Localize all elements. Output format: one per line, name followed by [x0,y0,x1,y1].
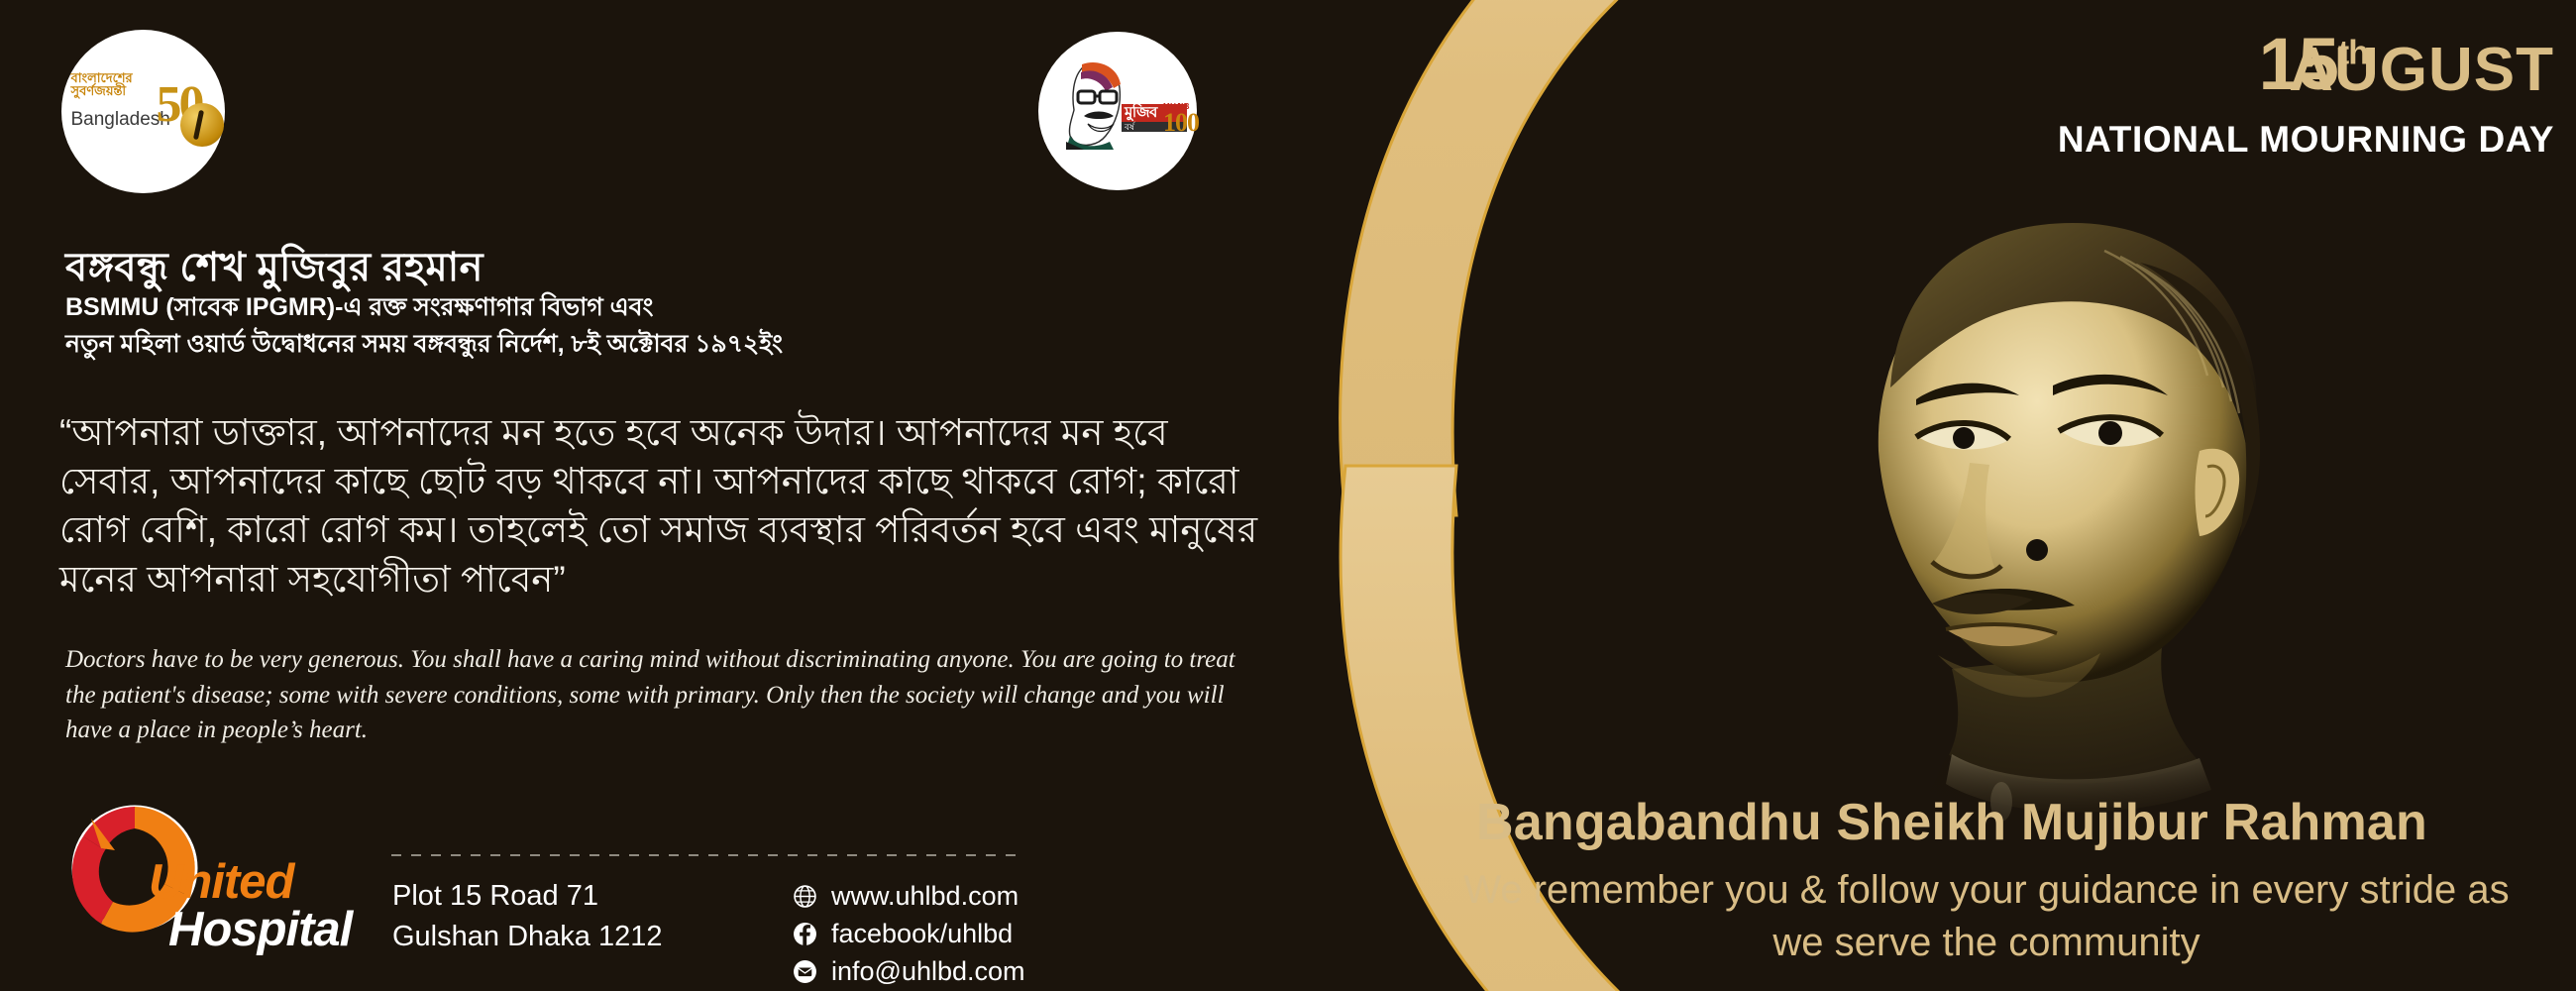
facebook-icon [793,922,817,946]
contact-website[interactable]: www.uhlbd.com [793,880,1025,913]
contact-email[interactable]: info@uhlbd.com [793,955,1025,988]
mujib-100-wordmark: মুজিব বর্ষ MUJIB 100 [1122,104,1187,132]
tagline: We remember you & follow your guidance i… [1437,864,2536,969]
globe-icon [793,884,817,909]
email-icon [793,959,817,984]
right-content-panel: 15th AUGUST NATIONAL MOURNING DAY [1328,0,2576,991]
bangla-subheading: BSMMU (সাবেক IPGMR)-এ রক্ত সংরক্ষণাগার ব… [65,289,1234,363]
logo-row: বাংলাদেশের সুবর্ণজয়ন্তী Bangladesh 50 [0,0,1328,198]
hospital-wordmark: Hospital [168,902,352,957]
email-label: info@uhlbd.com [831,956,1025,987]
mujib-100-number: 100 [1163,110,1199,136]
bangabandhu-portrait [1704,154,2417,827]
golden-circle-shape [180,103,224,147]
bangabandhu-name: Bangabandhu Sheikh Mujibur Rahman [1328,793,2576,852]
facebook-label: facebook/uhlbd [831,919,1013,949]
left-content-panel: বাংলাদেশের সুবর্ণজয়ন্তী Bangladesh 50 [0,0,1328,991]
contact-list: www.uhlbd.com facebook/uhlbd [793,880,1025,991]
bangla-quote: “আপনারা ডাক্তার, আপনাদের মন হতে হবে অনেক… [59,408,1278,604]
contact-facebook[interactable]: facebook/uhlbd [793,918,1025,950]
mourning-day-banner: বাংলাদেশের সুবর্ণজয়ন্তী Bangladesh 50 [0,0,2576,991]
bangladesh-50-logo: বাংলাদেশের সুবর্ণজয়ন্তী Bangladesh 50 [61,30,225,193]
day-subtitle: NATIONAL MOURNING DAY [2058,121,2554,158]
footer-divider [391,854,1016,856]
english-quote-translation: Doctors have to be very generous. You sh… [65,642,1239,748]
mujib-100-logo: মুজিব বর্ষ MUJIB 100 [1038,32,1197,190]
day-month: AUGUST [2289,40,2554,101]
website-label: www.uhlbd.com [831,881,1019,912]
bangladesh-50-bangla-text: বাংলাদেশের সুবর্ণজয়ন্তী [71,71,159,98]
united-hospital-logo[interactable]: United Hospital [61,793,359,966]
address-text: Plot 15 Road 71 Gulshan Dhaka 1212 [392,876,662,957]
